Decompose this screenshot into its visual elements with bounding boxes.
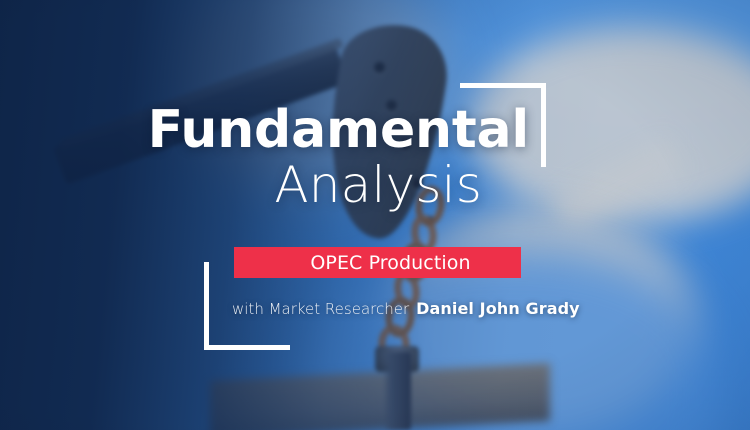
bracket-vertical-rule <box>204 262 209 350</box>
page-title-line-2: Analysis <box>0 160 482 210</box>
byline: with Market Researcher Daniel John Grady <box>232 299 580 318</box>
bracket-horizontal-rule <box>460 83 546 88</box>
page-title-line-1: Fundamental <box>0 104 529 156</box>
background-photo <box>0 0 750 430</box>
byline-prefix: with Market Researcher <box>232 300 409 318</box>
video-thumbnail: Fundamental Analysis OPEC Production wit… <box>0 0 750 430</box>
byline-presenter-name: Daniel John Grady <box>416 299 580 318</box>
topic-banner-label: OPEC Production <box>284 252 470 274</box>
bracket-vertical-rule <box>541 83 546 167</box>
vignette-overlay <box>0 0 750 430</box>
topic-banner: OPEC Production <box>234 247 521 278</box>
bracket-horizontal-rule <box>204 345 290 350</box>
